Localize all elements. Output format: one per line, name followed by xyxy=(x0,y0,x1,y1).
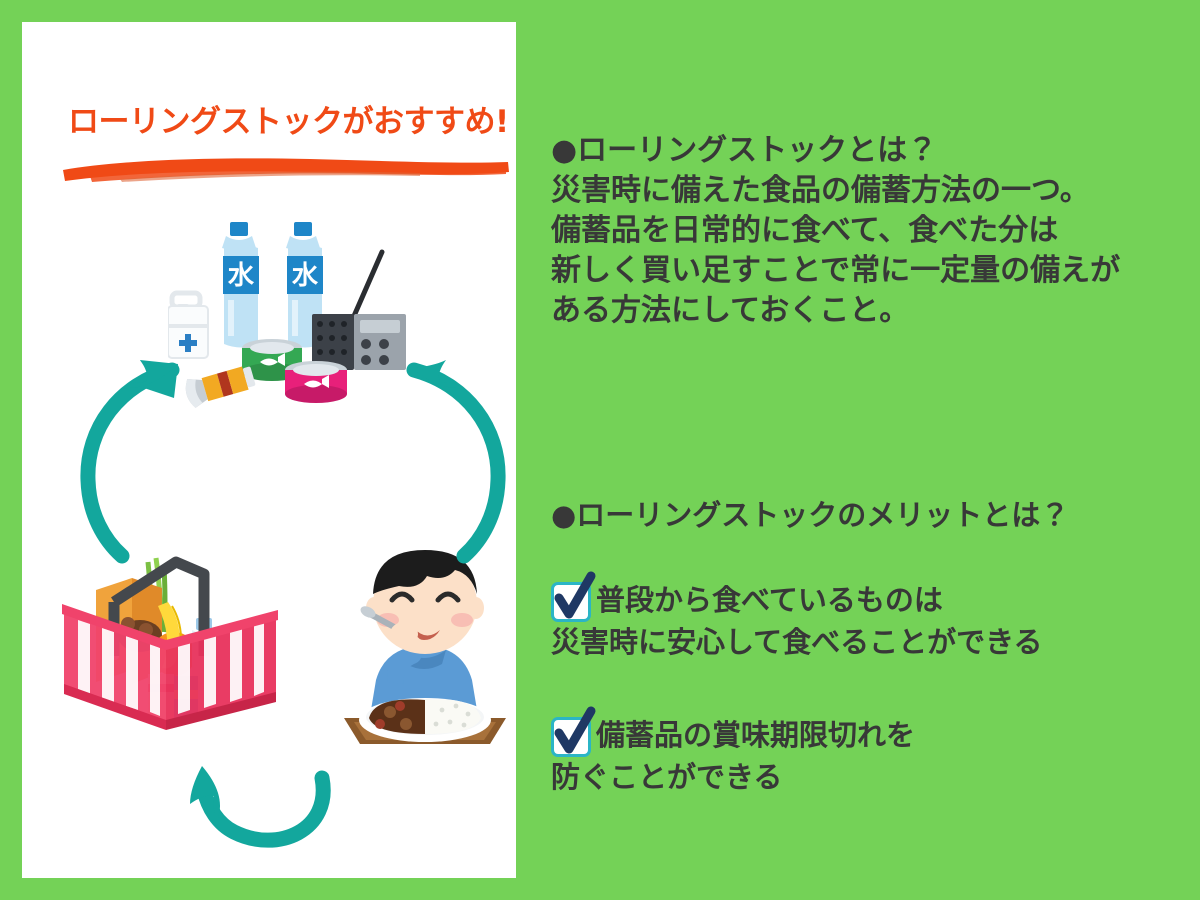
canned-fish-icon xyxy=(285,361,347,403)
definition-line: 災害時に備えた食品の備蓄方法の一つ。 xyxy=(551,171,1120,211)
checkbox-checked-icon xyxy=(551,582,591,622)
definition-line: 新しく買い足すことで常に一定量の備えが xyxy=(551,251,1120,291)
water-bottle-icon: 水 xyxy=(222,222,259,348)
svg-text:水: 水 xyxy=(227,261,255,291)
definition-block: ●ローリングストックとは？ 災害時に備えた食品の備蓄方法の一つ。 備蓄品を日常的… xyxy=(551,131,1120,331)
merit-text: 防ぐことができる xyxy=(551,757,915,797)
rolling-stock-cycle-illustration: 水 水 xyxy=(22,22,516,878)
emergency-supplies-group: 水 水 xyxy=(168,208,408,408)
first-aid-kit-icon xyxy=(168,293,208,358)
info-panel: ●ローリングストックとは？ 災害時に備えた食品の備蓄方法の一つ。 備蓄品を日常的… xyxy=(516,0,1200,900)
definition-heading: ●ローリングストックとは？ xyxy=(551,131,1120,171)
shopping-basket-icon xyxy=(56,544,284,744)
merit-heading: ●ローリングストックのメリットとは？ xyxy=(551,495,1069,535)
merit-item: 備蓄品の賞味期限切れを 防ぐことができる xyxy=(551,715,915,797)
svg-text:水: 水 xyxy=(291,261,319,291)
definition-line: 備蓄品を日常的に食べて、食べた分は xyxy=(551,211,1120,251)
definition-line: ある方法にしておくこと。 xyxy=(551,291,1120,331)
checkbox-checked-icon xyxy=(551,717,591,757)
merit-text: 普段から食べているものは xyxy=(596,580,943,620)
merit-text: 備蓄品の賞味期限切れを xyxy=(596,715,915,755)
illustration-card: ローリングストックがおすすめ! 水 xyxy=(22,22,516,878)
cycle-arrow-right-icon xyxy=(392,358,512,568)
radio-icon xyxy=(312,252,406,370)
merit-text: 災害時に安心して食べることができる xyxy=(551,622,1043,662)
merit-item: 普段から食べているものは 災害時に安心して食べることができる xyxy=(551,580,1043,662)
cycle-arrow-left-icon xyxy=(74,358,194,568)
cycle-arrow-bottom-icon xyxy=(172,750,402,870)
